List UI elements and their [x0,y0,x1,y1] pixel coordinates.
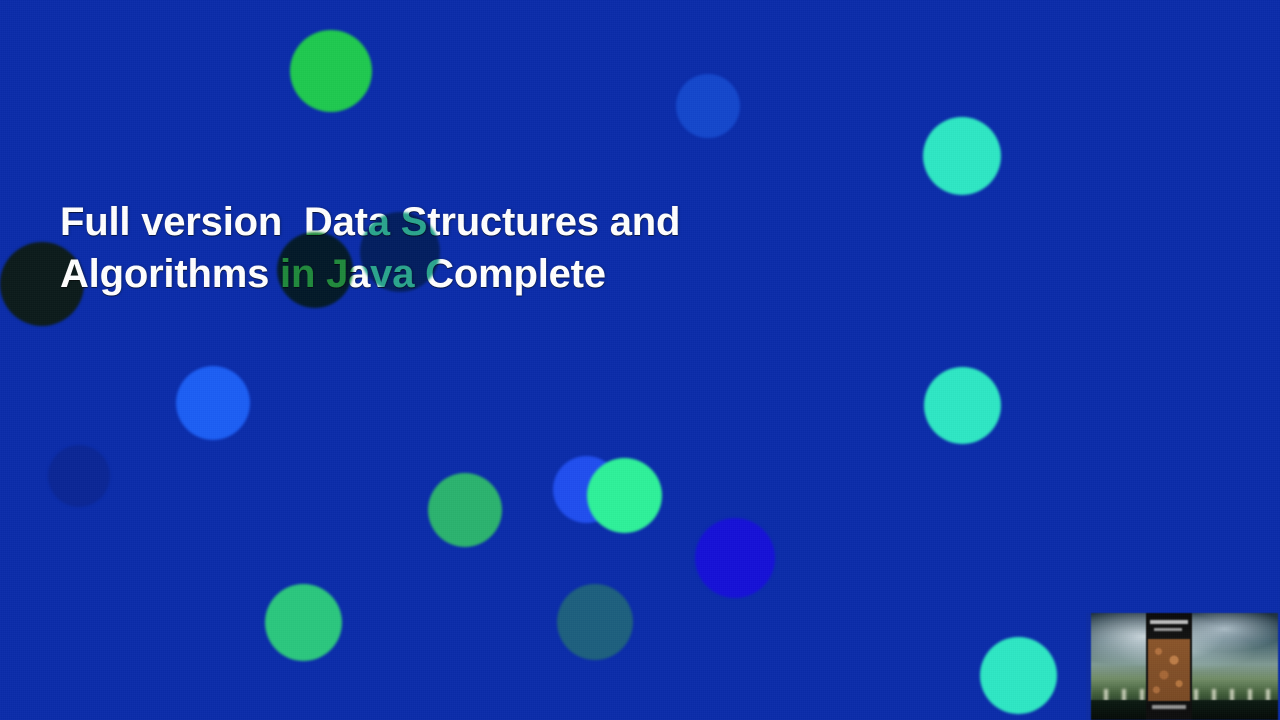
slide-canvas: Full version Data Structures and Algorit… [0,0,1280,720]
bubble-teal-text [360,212,440,292]
bubble-spring-green-mid [587,458,662,533]
bubble-green-mid [428,473,502,547]
bubble-blue-bright-left [176,366,250,440]
bubble-cyan-mid-right [924,367,1001,444]
thumbnail-subtitle-text-line [1154,628,1182,631]
book-cover-thumbnail [1086,613,1278,720]
bubble-teal-muted-bottom [557,584,633,660]
bubble-navy-faint-left [48,445,110,507]
title-block: Full version Data Structures and Algorit… [60,196,880,300]
bubble-cyan-bottom [980,637,1057,714]
bubble-green-bottom [265,584,342,661]
bubble-cyan-top-right [923,117,1001,195]
bubble-blue-faint-top [676,74,740,138]
bubble-green-top [290,30,372,112]
video-noise-overlay [0,0,1280,720]
bubble-deepblue-mid [695,518,775,598]
thumbnail-left-edge [1086,613,1091,720]
thumbnail-cork-panel [1148,639,1190,701]
page-title: Full version Data Structures and Algorit… [60,196,880,300]
bubble-darkgreen-text [277,232,353,308]
thumbnail-author-text-line [1152,705,1186,709]
thumbnail-title-text-line [1150,620,1188,624]
